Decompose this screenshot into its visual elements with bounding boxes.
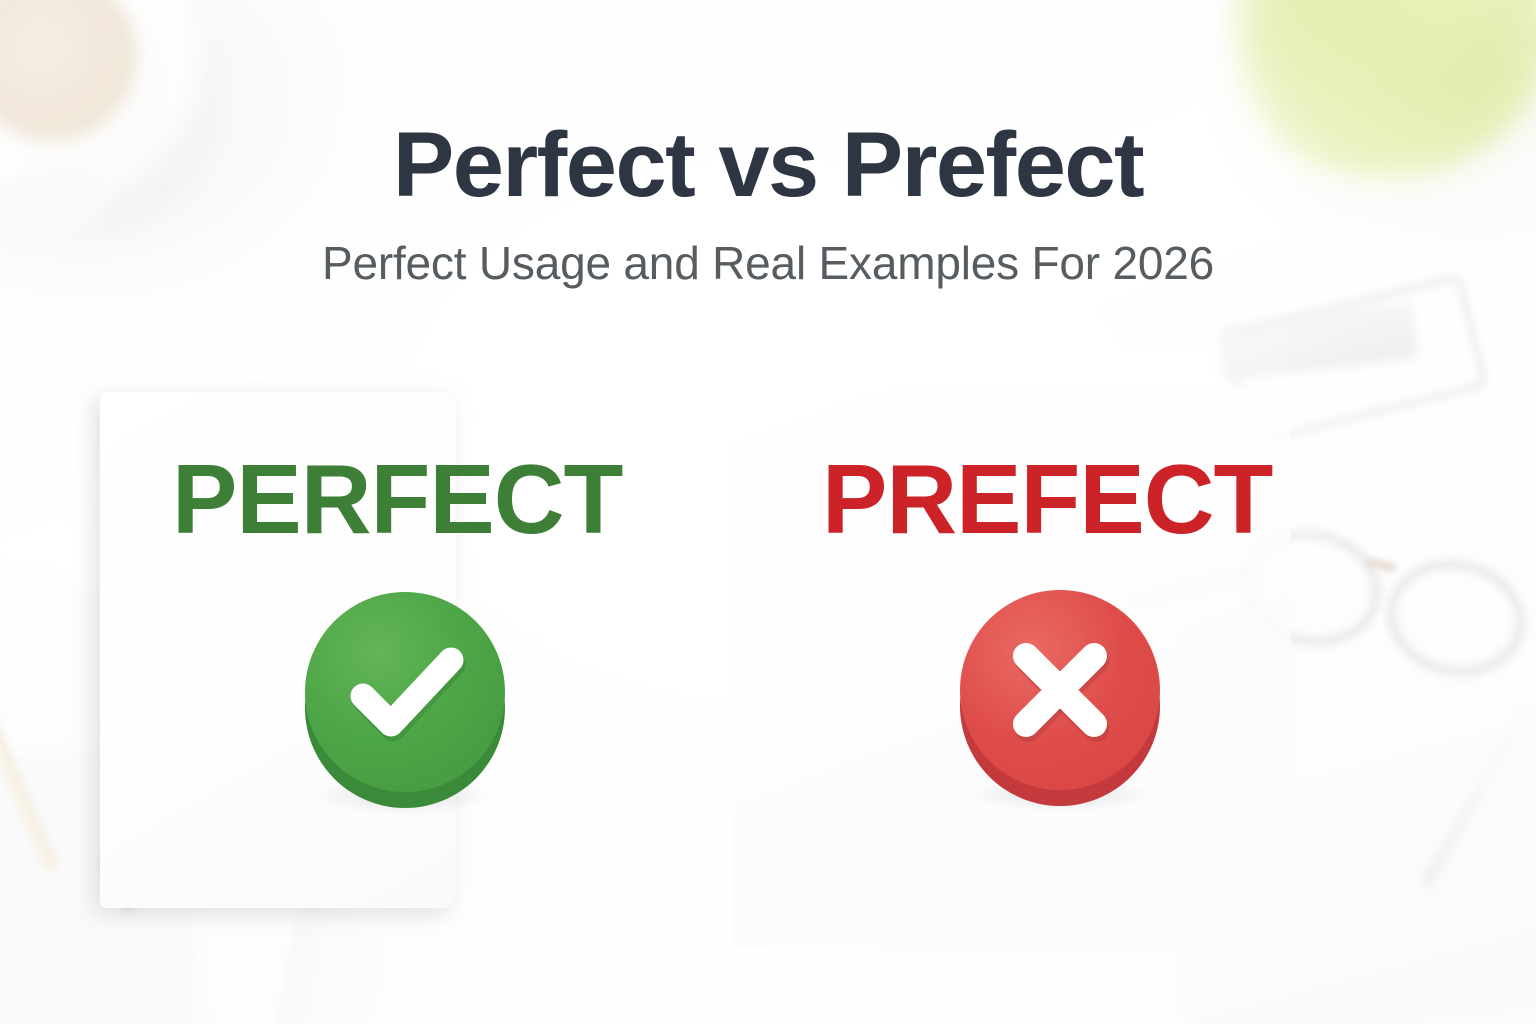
cross-circle-icon [960, 590, 1160, 806]
header: Perfect vs Prefect Perfect Usage and Rea… [0, 118, 1536, 290]
check-mark-glyph [305, 592, 505, 792]
correct-word: PERFECT [172, 450, 622, 548]
page-title: Perfect vs Prefect [0, 118, 1536, 214]
graphic-canvas: Perfect vs Prefect Perfect Usage and Rea… [0, 0, 1536, 1024]
page-subtitle: Perfect Usage and Real Examples For 2026 [0, 236, 1536, 290]
cross-mark-glyph [960, 590, 1160, 790]
check-circle-icon [305, 592, 505, 808]
incorrect-word: PREFECT [822, 450, 1272, 548]
